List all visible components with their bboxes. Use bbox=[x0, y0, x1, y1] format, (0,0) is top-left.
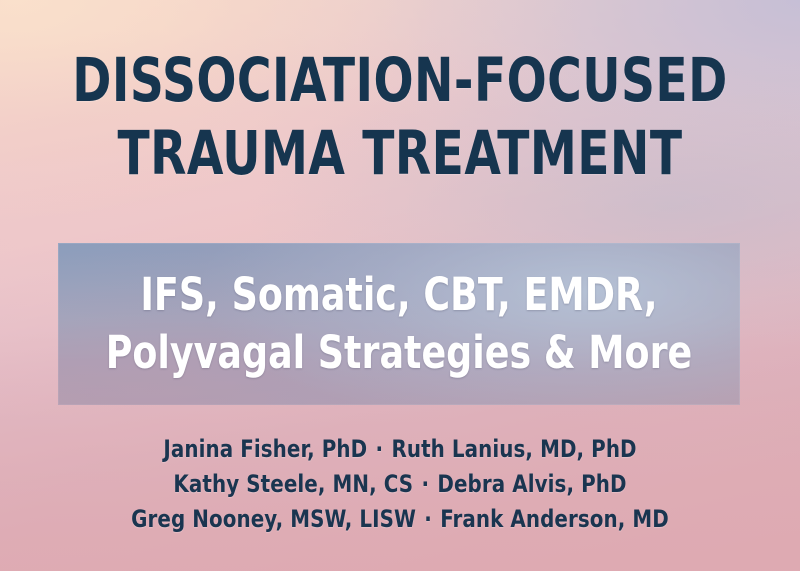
presenter-separator-icon: · bbox=[367, 432, 391, 467]
presenter-name-greg-nooney: Greg Nooney, MSW, LISW bbox=[131, 505, 416, 533]
presenter-row-1: Janina Fisher, PhD·Ruth Lanius, MD, PhD bbox=[32, 432, 768, 467]
presenter-separator-icon: · bbox=[416, 502, 440, 537]
subtitle-line-2: Polyvagal Strategies & More bbox=[92, 324, 706, 382]
presenter-name-frank-anderson: Frank Anderson, MD bbox=[440, 505, 669, 533]
presenter-separator-icon: · bbox=[413, 467, 437, 502]
subtitle-band: IFS, Somatic, CBT, EMDR, Polyvagal Strat… bbox=[58, 243, 740, 405]
presenter-row-2: Kathy Steele, MN, CS·Debra Alvis, PhD bbox=[32, 467, 768, 502]
presenter-name-debra-alvis: Debra Alvis, PhD bbox=[437, 470, 626, 498]
presenter-name-janina-fisher: Janina Fisher, PhD bbox=[163, 435, 367, 463]
subtitle-line-1: IFS, Somatic, CBT, EMDR, bbox=[92, 266, 706, 324]
subtitle-text-group: IFS, Somatic, CBT, EMDR, Polyvagal Strat… bbox=[58, 266, 740, 382]
page-title: DISSOCIATION-FOCUSED TRAUMA TREATMENT bbox=[0, 44, 800, 190]
poster-canvas: DISSOCIATION-FOCUSED TRAUMA TREATMENT IF… bbox=[0, 0, 800, 571]
presenter-list: Janina Fisher, PhD·Ruth Lanius, MD, PhD … bbox=[0, 432, 800, 537]
presenter-name-ruth-lanius: Ruth Lanius, MD, PhD bbox=[391, 435, 636, 463]
presenter-name-kathy-steele: Kathy Steele, MN, CS bbox=[173, 470, 413, 498]
presenter-row-3: Greg Nooney, MSW, LISW·Frank Anderson, M… bbox=[32, 502, 768, 537]
title-line-1: DISSOCIATION-FOCUSED bbox=[56, 44, 744, 117]
title-line-2: TRAUMA TREATMENT bbox=[56, 117, 744, 190]
